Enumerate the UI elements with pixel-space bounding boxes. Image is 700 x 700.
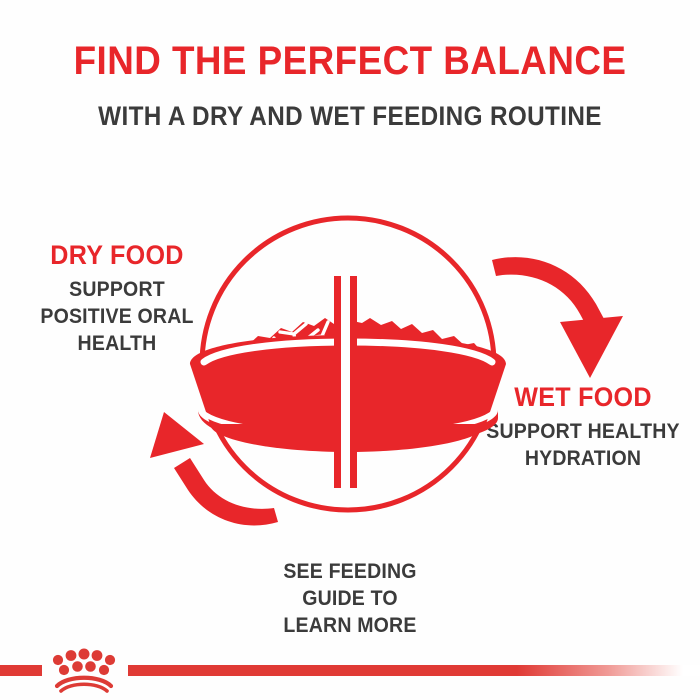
caption-line-2: GUIDE TO: [25, 585, 676, 612]
feeding-guide-caption: SEE FEEDING GUIDE TO LEARN MORE: [0, 558, 700, 639]
footer-bar-right: [128, 665, 700, 676]
royal-canin-crown-logo: [44, 644, 124, 694]
header-block: FIND THE PERFECT BALANCE WITH A DRY AND …: [0, 38, 700, 132]
curved-arrow-down-right-icon: [492, 257, 623, 378]
footer: [0, 642, 700, 700]
footer-bar-left: [0, 665, 42, 676]
vertical-divider-icon: [334, 276, 357, 488]
caption-line-3: LEARN MORE: [25, 612, 676, 639]
page-title: FIND THE PERFECT BALANCE: [28, 38, 672, 84]
caption-line-1: SEE FEEDING: [25, 558, 676, 585]
page-subtitle: WITH A DRY AND WET FEEDING ROUTINE: [35, 100, 665, 132]
feeding-balance-illustration: [78, 212, 638, 542]
poster-canvas: FIND THE PERFECT BALANCE WITH A DRY AND …: [0, 0, 700, 700]
